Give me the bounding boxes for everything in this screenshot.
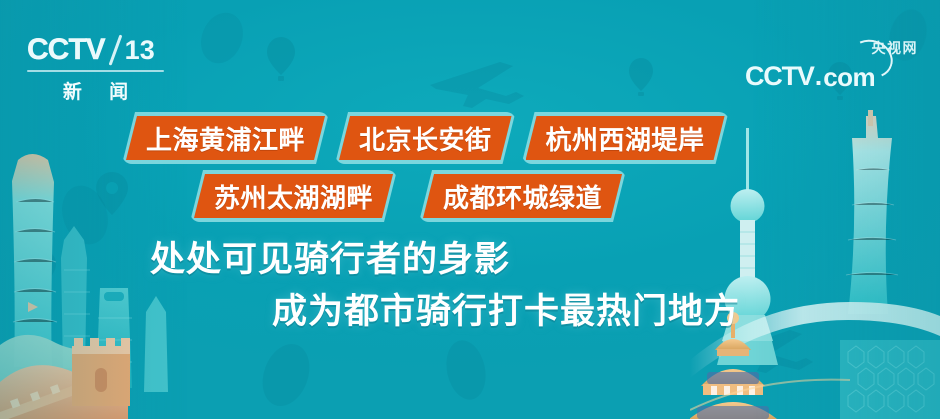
location-tag-row-2: 苏州太湖湖畔 成都环城绿道: [0, 170, 940, 222]
tag-shanghai-huangpu-label: 上海黄浦江畔: [126, 116, 325, 160]
tag-chengdu-greenway[interactable]: 成都环城绿道: [423, 170, 622, 222]
cctv-com-wordmark: CCTV: [745, 63, 814, 90]
headline-block: 处处可见骑行者的身影 成为都市骑行打卡最热门地方: [0, 234, 940, 338]
tag-hangzhou-xihu-label: 杭州西湖堤岸: [526, 116, 725, 160]
tag-shanghai-huangpu[interactable]: 上海黄浦江畔: [126, 112, 325, 164]
tag-suzhou-taihu-label: 苏州太湖湖畔: [194, 174, 393, 218]
cctv-com-dot: .: [815, 63, 823, 90]
cctv-13-subtitle: 新 闻: [27, 77, 164, 104]
tag-beijing-changan[interactable]: 北京长安街: [339, 112, 512, 164]
tag-suzhou-taihu[interactable]: 苏州太湖湖畔: [194, 170, 393, 222]
cctv-13-logo: CCTV 13 新 闻: [27, 33, 172, 103]
headline-line-2: 成为都市骑行打卡最热门地方: [0, 286, 940, 338]
cctv-13-wordmark: CCTV: [27, 35, 105, 65]
tag-hangzhou-xihu[interactable]: 杭州西湖堤岸: [526, 112, 725, 164]
cctv-com-logo: 央视网 CCTV . com: [745, 38, 920, 90]
location-tag-group: 上海黄浦江畔 北京长安街 杭州西湖堤岸 苏州太湖湖畔 成都环城绿道: [0, 112, 940, 228]
cctv-13-divider: [27, 70, 164, 72]
location-tag-row-1: 上海黄浦江畔 北京长安街 杭州西湖堤岸: [0, 112, 940, 164]
cctv-13-channel-number: 13: [125, 37, 155, 64]
cctv-13-slash-icon: [108, 35, 124, 65]
tag-chengdu-greenway-label: 成都环城绿道: [423, 174, 622, 218]
headline-line-1: 处处可见骑行者的身影: [0, 234, 940, 286]
broadcast-graphic: CCTV 13 新 闻 央视网 CCTV . com 上海黄浦江畔 北京长安街 …: [0, 0, 940, 419]
tag-beijing-changan-label: 北京长安街: [339, 116, 512, 160]
